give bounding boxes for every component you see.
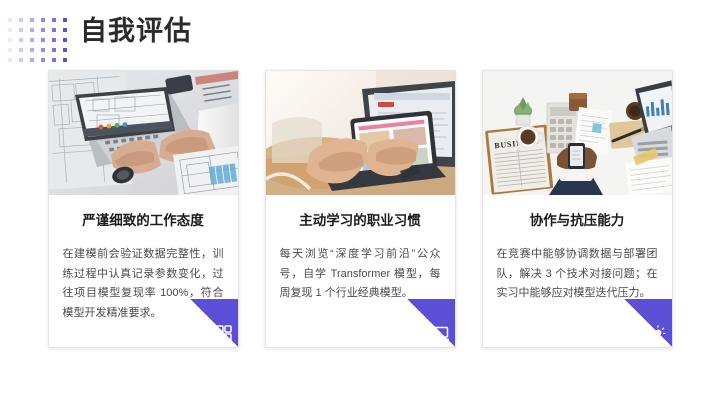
dot bbox=[19, 48, 23, 52]
dot bbox=[19, 18, 23, 22]
card-corner-accent bbox=[624, 299, 672, 347]
card-text: 在建模前会验证数据完整性，训练过程中认真记录参数变化，过往项目模型复现率 100… bbox=[63, 245, 224, 323]
dot bbox=[63, 38, 67, 42]
dot bbox=[30, 58, 34, 62]
corner-wedge bbox=[624, 299, 672, 347]
dot bbox=[41, 28, 45, 32]
assessment-card[interactable]: BUSINESS bbox=[482, 70, 673, 348]
card-heading: 协作与抗压能力 bbox=[497, 211, 658, 231]
dot bbox=[19, 58, 23, 62]
assessment-card[interactable]: 主动学习的职业习惯 每天浏览“深度学习前沿”公众号，自学 Transformer… bbox=[265, 70, 456, 348]
dot bbox=[8, 28, 12, 32]
card-heading: 主动学习的职业习惯 bbox=[280, 211, 441, 231]
card-list: 严谨细致的工作态度 在建模前会验证数据完整性，训练过程中认真记录参数变化，过往项… bbox=[0, 70, 720, 348]
page-header: 自我评估 bbox=[0, 0, 720, 70]
dot bbox=[30, 18, 34, 22]
dot bbox=[52, 28, 56, 32]
dot bbox=[30, 38, 34, 42]
card-photo-desk-flatlay: BUSINESS bbox=[483, 71, 672, 195]
dot bbox=[30, 48, 34, 52]
dot bbox=[8, 48, 12, 52]
grid-squares-icon bbox=[216, 325, 232, 341]
dot bbox=[41, 38, 45, 42]
monitor-icon bbox=[433, 325, 449, 341]
dot bbox=[63, 58, 67, 62]
card-text: 每天浏览“深度学习前沿”公众号，自学 Transformer 模型，每周复现 1… bbox=[280, 245, 441, 304]
dot bbox=[52, 18, 56, 22]
dot bbox=[41, 58, 45, 62]
corner-wedge bbox=[407, 299, 455, 347]
assessment-card[interactable]: 严谨细致的工作态度 在建模前会验证数据完整性，训练过程中认真记录参数变化，过往项… bbox=[48, 70, 239, 348]
dot bbox=[52, 38, 56, 42]
dot bbox=[30, 28, 34, 32]
dot bbox=[63, 28, 67, 32]
dot bbox=[52, 58, 56, 62]
dot bbox=[19, 28, 23, 32]
card-body: 主动学习的职业习惯 每天浏览“深度学习前沿”公众号，自学 Transformer… bbox=[266, 195, 455, 347]
card-body: 协作与抗压能力 在竞赛中能够协调数据与部署团队，解决 3 个技术对接问题；在实习… bbox=[483, 195, 672, 347]
dot bbox=[41, 18, 45, 22]
dot-grid-decoration bbox=[8, 18, 69, 64]
lightbulb-icon bbox=[650, 325, 666, 341]
dot bbox=[8, 38, 12, 42]
page-title: 自我评估 bbox=[80, 13, 192, 49]
card-heading: 严谨细致的工作态度 bbox=[63, 211, 224, 231]
dot bbox=[52, 48, 56, 52]
card-text: 在竞赛中能够协调数据与部署团队，解决 3 个技术对接问题；在实习中能够应对模型迭… bbox=[497, 245, 658, 304]
dot bbox=[63, 48, 67, 52]
dot bbox=[63, 18, 67, 22]
card-body: 严谨细致的工作态度 在建模前会验证数据完整性，训练过程中认真记录参数变化，过往项… bbox=[49, 195, 238, 347]
card-corner-accent bbox=[407, 299, 455, 347]
card-photo-workstation bbox=[49, 71, 238, 195]
dot bbox=[8, 58, 12, 62]
dot bbox=[8, 18, 12, 22]
dot bbox=[19, 38, 23, 42]
dot bbox=[41, 48, 45, 52]
card-photo-tablet bbox=[266, 71, 455, 195]
